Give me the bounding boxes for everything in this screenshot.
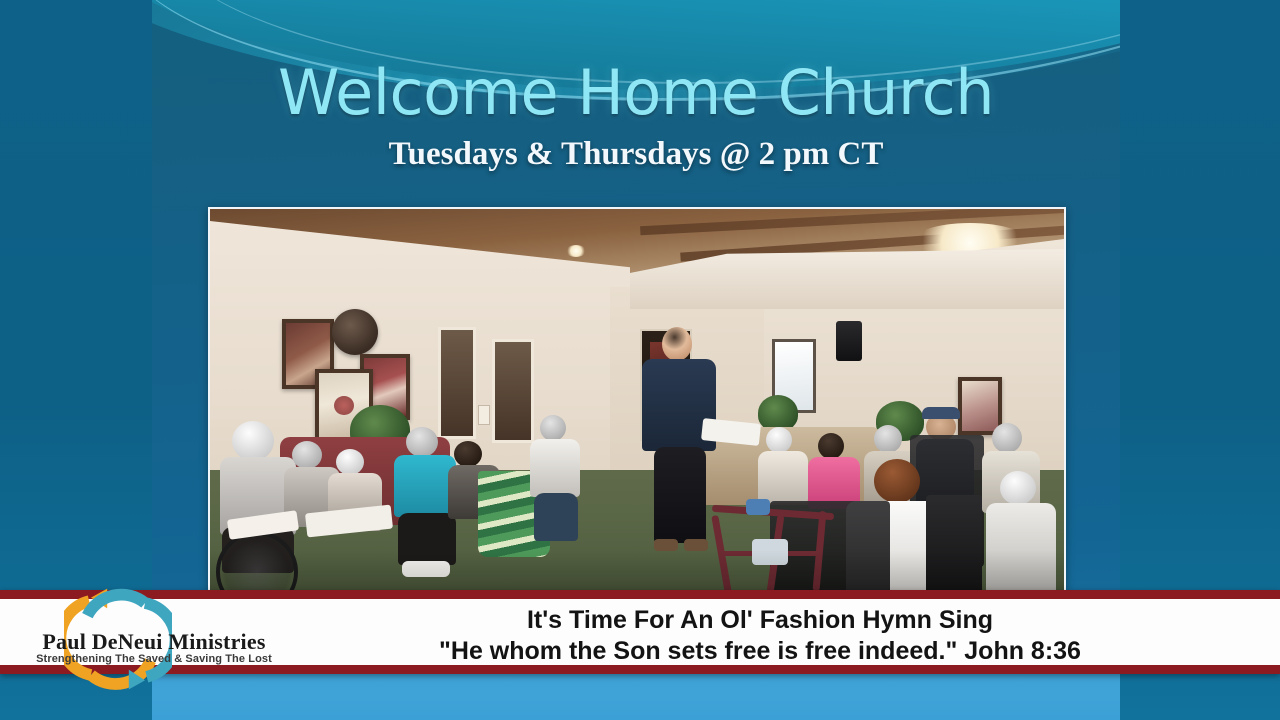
wall-sconce <box>478 405 490 425</box>
service-photo <box>208 207 1066 592</box>
doorway <box>438 327 476 439</box>
ministry-tagline: Strengthening The Saved & Saving The Los… <box>12 653 296 665</box>
lower-third-banner: Paul DeNeui Ministries Strengthening The… <box>0 590 1280 674</box>
caption-line-2: "He whom the Son sets free is free indee… <box>300 636 1220 667</box>
wall-art <box>958 377 1002 435</box>
caption-block: It's Time For An Ol' Fashion Hymn Sing "… <box>300 605 1220 667</box>
ministry-name: Paul DeNeui Ministries <box>12 629 296 655</box>
ceiling-light <box>566 245 586 257</box>
caption-line-1: It's Time For An Ol' Fashion Hymn Sing <box>300 605 1220 636</box>
doorway <box>492 339 534 443</box>
wall-speaker <box>836 321 862 361</box>
photo-vignette <box>210 550 1064 590</box>
slide-subtitle: Tuesdays & Thursdays @ 2 pm CT <box>152 136 1120 173</box>
ministry-logo: Paul DeNeui Ministries Strengthening The… <box>6 607 296 669</box>
video-frame: Welcome Home Church Tuesdays & Thursdays… <box>0 0 1280 720</box>
slide-title: Welcome Home Church <box>152 56 1120 129</box>
wall-clock <box>332 309 378 355</box>
potted-plant <box>758 395 798 431</box>
slide-bottom-band <box>152 668 1120 720</box>
service-photo-image <box>210 209 1064 590</box>
